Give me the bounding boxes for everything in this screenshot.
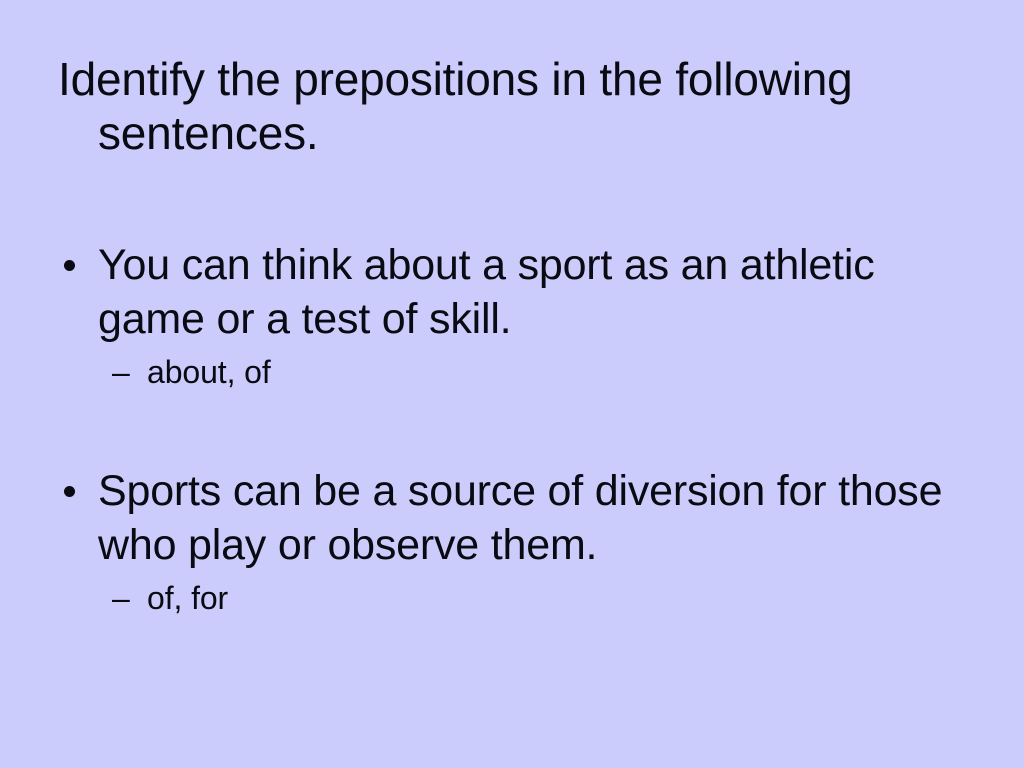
slide-body: You can think about a sport as an athlet…	[0, 238, 1024, 618]
bullet-dot-icon	[64, 260, 75, 271]
list-item: Sports can be a source of diversion for …	[0, 464, 1024, 572]
bullet-group: You can think about a sport as an athlet…	[0, 238, 1024, 392]
slide-canvas: Identify the prepositions in the followi…	[0, 0, 1024, 768]
list-item: You can think about a sport as an athlet…	[0, 238, 1024, 346]
list-item-text: Sports can be a source of diversion for …	[98, 464, 954, 572]
sub-list-item-text: about, of	[147, 352, 1024, 392]
page-title: Identify the prepositions in the followi…	[58, 52, 958, 160]
bullet-dot-icon	[64, 486, 75, 497]
sub-list-item: – about, of	[0, 352, 1024, 392]
sub-list-item-text: of, for	[147, 578, 1024, 618]
en-dash-icon: –	[112, 352, 130, 392]
en-dash-icon: –	[112, 578, 130, 618]
list-item-text: You can think about a sport as an athlet…	[98, 238, 954, 346]
sub-list-item: – of, for	[0, 578, 1024, 618]
bullet-group: Sports can be a source of diversion for …	[0, 464, 1024, 618]
